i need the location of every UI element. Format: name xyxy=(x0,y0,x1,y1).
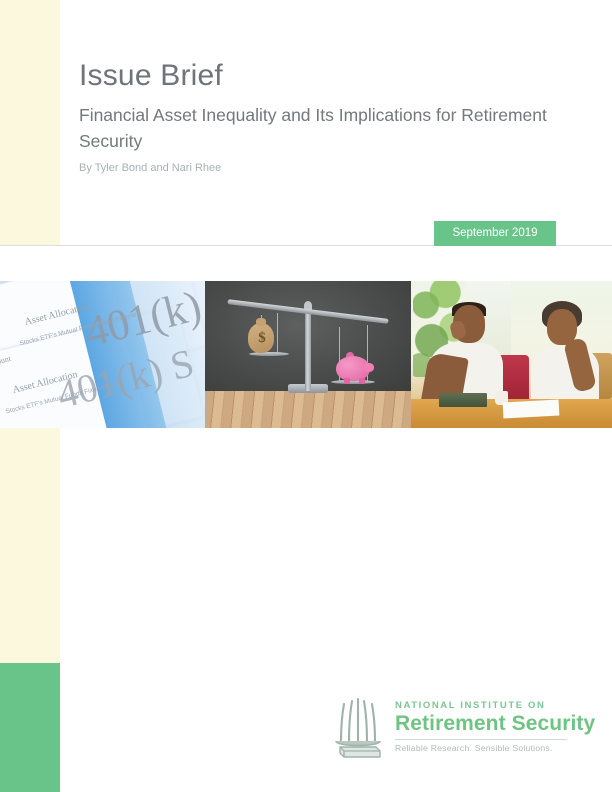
page-subtitle: Financial Asset Inequality and Its Impli… xyxy=(79,102,574,154)
scale-string-left-b xyxy=(277,313,278,353)
dollar-sign-icon: $ xyxy=(254,330,270,347)
author-byline: By Tyler Bond and Nari Rhee xyxy=(79,161,579,176)
cover-page: Issue Brief Financial Asset Inequality a… xyxy=(0,0,612,792)
left-accent-strip-green xyxy=(0,663,60,792)
title-block: Issue Brief Financial Asset Inequality a… xyxy=(79,58,579,176)
piggy-bank-leg-back xyxy=(359,378,365,384)
paperwork xyxy=(503,400,560,419)
cover-photo-band: 401(k) S 401(k) S Asset Allocation Asset… xyxy=(0,281,612,428)
stacked-folders xyxy=(439,393,487,407)
logo-line-national-institute-on: NATIONAL INSTITUTE ON xyxy=(395,700,595,711)
logo-tagline: Reliable Research. Sensible Solutions. xyxy=(395,743,595,753)
scale-post xyxy=(305,307,311,391)
logo-text-block: NATIONAL INSTITUTE ON Retirement Securit… xyxy=(395,697,595,753)
piggy-bank-leg-front xyxy=(344,378,350,384)
wood-table-surface xyxy=(205,391,411,428)
401k-statement-photo: 401(k) S 401(k) S Asset Allocation Asset… xyxy=(0,281,205,428)
organization-logo: NATIONAL INSTITUTE ON Retirement Securit… xyxy=(330,697,595,759)
page-title: Issue Brief xyxy=(79,58,579,94)
left-accent-strip-yellow-top xyxy=(0,0,60,245)
scale-pan-left xyxy=(249,352,289,356)
balance-scale-photo: $ xyxy=(205,281,411,428)
money-bag-neck xyxy=(256,318,266,326)
logo-line-retirement-security: Retirement Security xyxy=(395,712,595,736)
fountain-column-icon xyxy=(330,697,386,759)
publication-date-badge: September 2019 xyxy=(434,221,556,246)
logo-divider-rule xyxy=(395,739,567,740)
left-accent-strip-yellow-bottom xyxy=(0,428,60,663)
worried-couple-photo xyxy=(411,281,612,428)
piggy-bank-snout xyxy=(363,363,374,372)
